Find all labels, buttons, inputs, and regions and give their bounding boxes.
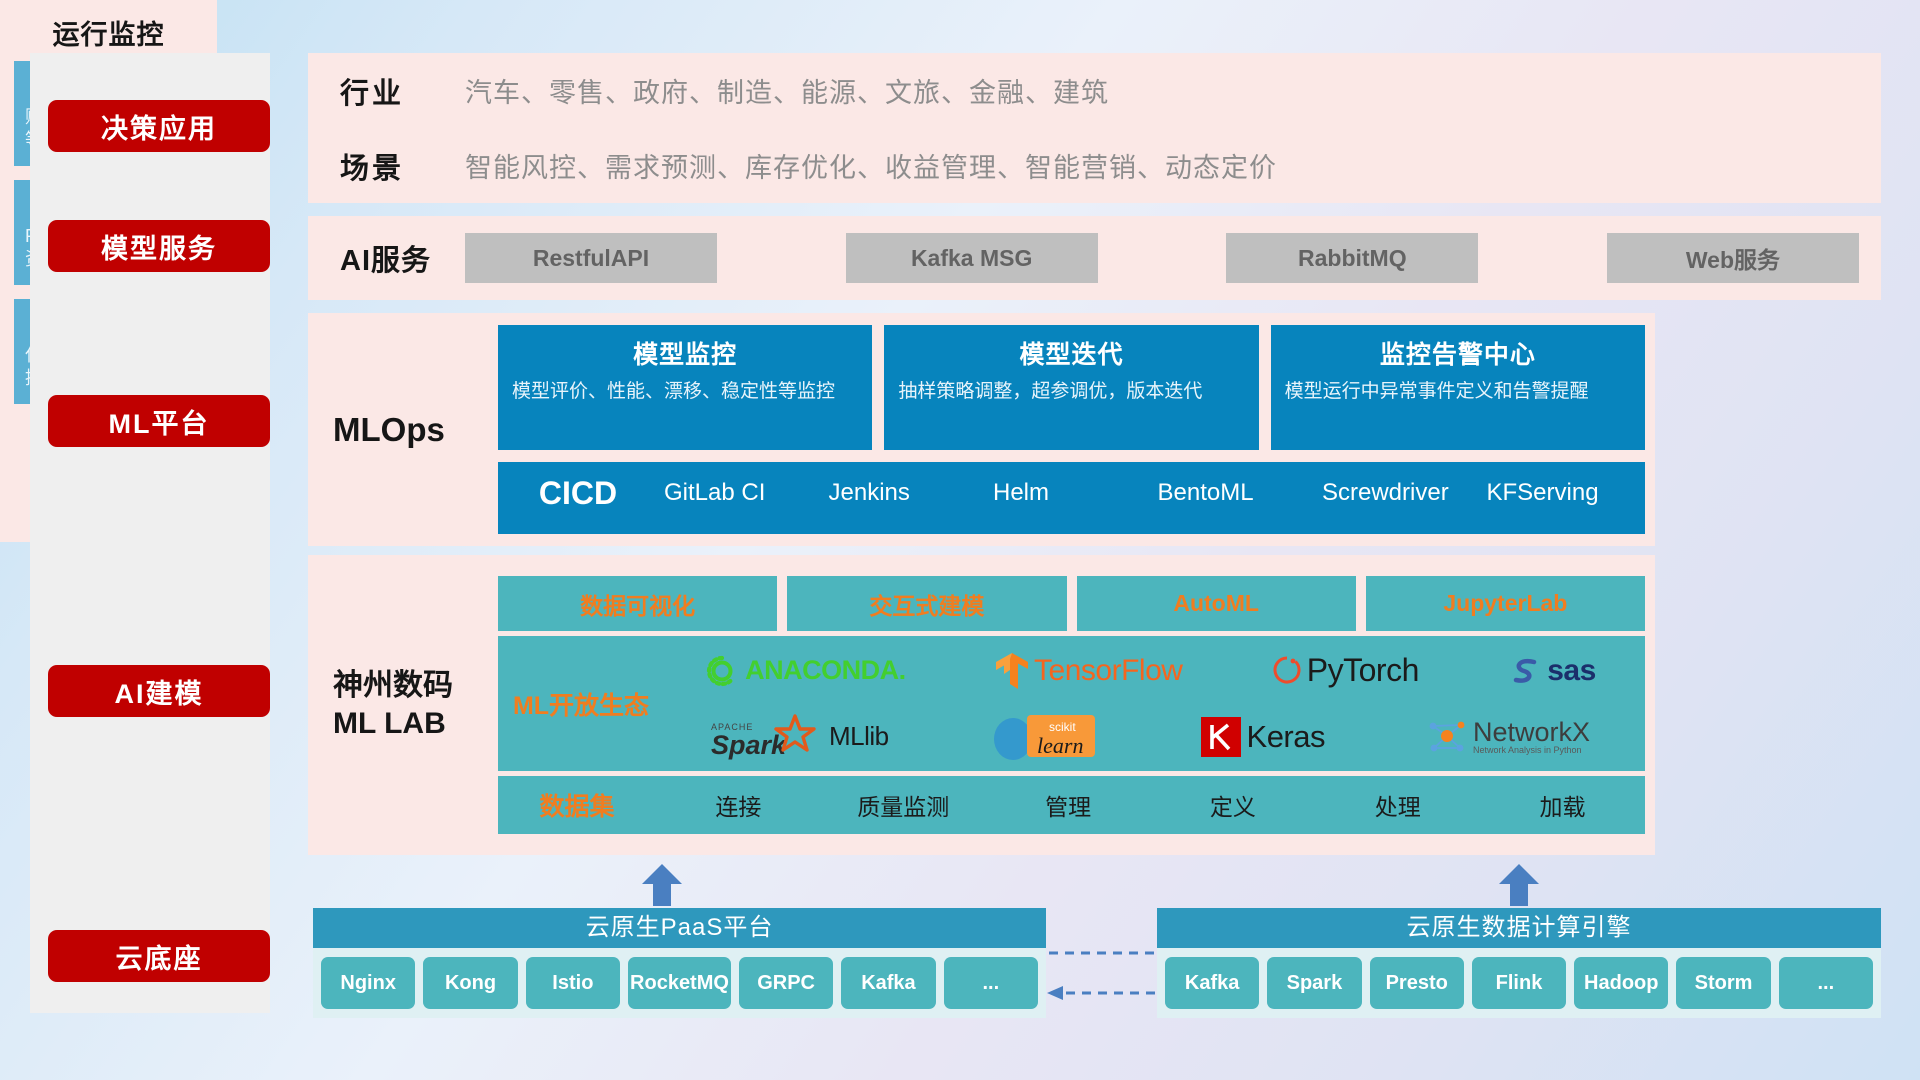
scikit-learn-logo: scikit learn <box>991 713 1099 761</box>
engine-chip-flink[interactable]: Flink <box>1472 957 1566 1009</box>
scenario-value: 智能风控、需求预测、库存优化、收益管理、智能营销、动态定价 <box>465 146 1277 185</box>
rail-label: 决策应用 <box>101 107 217 146</box>
mlops-card-model-monitoring[interactable]: 模型监控 模型评价、性能、漂移、稳定性等监控 <box>498 325 872 450</box>
rail-item-ai-modeling[interactable]: AI建模 <box>48 665 270 717</box>
scikit-learn-icon: scikit learn <box>991 713 1099 761</box>
engine-chip-presto[interactable]: Presto <box>1370 957 1464 1009</box>
ai-service-band: AI服务 RestfulAPI Kafka MSG RabbitMQ Web服务 <box>308 216 1881 300</box>
mlops-cards: 模型监控 模型评价、性能、漂移、稳定性等监控 模型迭代 抽样策略调整，超参调优，… <box>498 325 1645 450</box>
cicd-item-screwdriver[interactable]: Screwdriver <box>1316 462 1481 509</box>
paas-chip-grpc[interactable]: GRPC <box>739 957 833 1009</box>
mlops-card-alert-center[interactable]: 监控告警中心 模型运行中异常事件定义和告警提醒 <box>1271 325 1645 450</box>
anaconda-text: ANACONDA. <box>745 655 906 686</box>
cicd-row: CICD GitLab CI Jenkins Helm BentoML Scre… <box>498 462 1645 534</box>
ml-ecosystem-block: ML开放生态 ANACONDA. <box>498 636 1645 771</box>
cloud-engine-chips: Kafka Spark Presto Flink Hadoop Storm ..… <box>1157 948 1881 1018</box>
cicd-item-kfserving[interactable]: KFServing <box>1481 462 1646 509</box>
mlops-card-model-iteration[interactable]: 模型迭代 抽样策略调整，超参调优，版本迭代 <box>884 325 1258 450</box>
engine-chip-hadoop[interactable]: Hadoop <box>1574 957 1668 1009</box>
card-desc: 模型运行中异常事件定义和告警提醒 <box>1285 379 1631 404</box>
cicd-item-gitlab[interactable]: GitLab CI <box>658 462 823 509</box>
keras-logo: Keras <box>1201 717 1325 757</box>
engine-chip-storm[interactable]: Storm <box>1676 957 1770 1009</box>
card-title: 模型迭代 <box>898 335 1244 371</box>
bidirectional-dashed-connector-icon <box>1045 935 1175 1005</box>
service-button-web[interactable]: Web服务 <box>1607 233 1859 283</box>
scenario-key: 场景 <box>340 145 465 187</box>
service-button-restful[interactable]: RestfulAPI <box>465 233 717 283</box>
paas-chip-istio[interactable]: Istio <box>526 957 620 1009</box>
scenario-row: 场景 智能风控、需求预测、库存优化、收益管理、智能营销、动态定价 <box>308 128 1881 203</box>
dataset-item-quality[interactable]: 质量监测 <box>821 788 986 822</box>
cicd-title: CICD <box>498 462 658 512</box>
industry-row: 行业 汽车、零售、政府、制造、能源、文旅、金融、建筑 <box>308 53 1881 128</box>
diagram-canvas: 决策应用 模型服务 ML平台 AI建模 云底座 行业 汽车、零售、政府、制造、能… <box>0 0 1920 1080</box>
tool-interactive-modeling[interactable]: 交互式建模 <box>787 576 1066 631</box>
rail-label: 模型服务 <box>101 227 217 266</box>
pytorch-logo: PyTorch <box>1273 652 1419 689</box>
rail-item-cloud-base[interactable]: 云底座 <box>48 930 270 982</box>
cloud-engine-title: 云原生数据计算引擎 <box>1157 908 1881 948</box>
rail-label: AI建模 <box>115 672 204 711</box>
card-title: 模型监控 <box>512 335 858 371</box>
mllib-text: MLlib <box>829 721 889 752</box>
monitor-panel-title: 运行监控 <box>0 0 217 61</box>
engine-chip-more[interactable]: ... <box>1779 957 1873 1009</box>
ml-lab-tools: 数据可视化 交互式建模 AutoML JupyterLab <box>498 576 1645 631</box>
rail-item-model-service[interactable]: 模型服务 <box>48 220 270 272</box>
anaconda-icon <box>705 654 739 688</box>
ecosystem-logo-row-2: APACHE Spark MLlib scikit <box>660 705 1641 769</box>
ml-lab-label-line1: 神州数码 <box>333 667 498 705</box>
svg-text:Spark: Spark <box>711 730 788 760</box>
mlops-content: 模型监控 模型评价、性能、漂移、稳定性等监控 模型迭代 抽样策略调整，超参调优，… <box>498 316 1655 543</box>
ml-ecosystem-label: ML开放生态 <box>502 686 660 722</box>
service-button-rabbitmq[interactable]: RabbitMQ <box>1226 233 1478 283</box>
dataset-item-process[interactable]: 处理 <box>1315 788 1480 822</box>
paas-chip-kong[interactable]: Kong <box>423 957 517 1009</box>
dataset-item-load[interactable]: 加载 <box>1480 788 1645 822</box>
paas-chip-nginx[interactable]: Nginx <box>321 957 415 1009</box>
tool-automl[interactable]: AutoML <box>1077 576 1356 631</box>
sas-logo: sas <box>1509 654 1596 688</box>
industry-key: 行业 <box>340 70 465 112</box>
dataset-row: 数据集 连接 质量监测 管理 定义 处理 加载 <box>498 776 1645 834</box>
stack-layer-rail <box>30 53 270 1013</box>
svg-text:scikit: scikit <box>1049 720 1076 734</box>
card-title: 监控告警中心 <box>1285 335 1631 371</box>
cicd-item-bentoml[interactable]: BentoML <box>1152 462 1317 509</box>
engine-chip-spark[interactable]: Spark <box>1267 957 1361 1009</box>
ai-service-buttons: RestfulAPI Kafka MSG RabbitMQ Web服务 <box>465 233 1881 283</box>
rail-item-ml-platform[interactable]: ML平台 <box>48 395 270 447</box>
pytorch-text: PyTorch <box>1307 652 1419 689</box>
mlops-label: MLOps <box>333 411 498 449</box>
keras-text: Keras <box>1247 719 1325 755</box>
ai-service-label: AI服务 <box>340 237 465 279</box>
cloud-paas-chips: Nginx Kong Istio RocketMQ GRPC Kafka ... <box>313 948 1046 1018</box>
cloud-paas-box: 云原生PaaS平台 Nginx Kong Istio RocketMQ GRPC… <box>313 908 1046 1018</box>
paas-chip-kafka[interactable]: Kafka <box>841 957 935 1009</box>
sas-icon <box>1509 655 1541 687</box>
cloud-paas-title: 云原生PaaS平台 <box>313 908 1046 948</box>
dataset-item-manage[interactable]: 管理 <box>986 788 1151 822</box>
networkx-icon <box>1427 718 1467 756</box>
engine-chip-kafka[interactable]: Kafka <box>1165 957 1259 1009</box>
tensorflow-text: TensorFlow <box>1034 654 1182 688</box>
dataset-label: 数据集 <box>498 787 656 823</box>
paas-chip-more[interactable]: ... <box>944 957 1038 1009</box>
up-arrow-engine-icon <box>1497 862 1541 906</box>
tensorflow-logo: TensorFlow <box>996 653 1182 689</box>
networkx-logo: NetworkX Network Analysis in Python <box>1427 718 1590 756</box>
cicd-item-jenkins[interactable]: Jenkins <box>823 462 988 509</box>
pytorch-icon <box>1273 654 1301 688</box>
ml-lab-label: 神州数码 ML LAB <box>333 667 498 743</box>
ml-ecosystem-logos: ANACONDA. TensorFlow <box>660 639 1641 769</box>
tool-data-visualization[interactable]: 数据可视化 <box>498 576 777 631</box>
networkx-text: NetworkX <box>1473 719 1590 746</box>
dataset-item-connect[interactable]: 连接 <box>656 788 821 822</box>
rail-item-decision-app[interactable]: 决策应用 <box>48 100 270 152</box>
keras-icon <box>1201 717 1241 757</box>
industry-scenario-band: 行业 汽车、零售、政府、制造、能源、文旅、金融、建筑 场景 智能风控、需求预测、… <box>308 53 1881 203</box>
anaconda-logo: ANACONDA. <box>705 654 906 688</box>
sas-text: sas <box>1547 654 1596 688</box>
spark-icon: APACHE Spark <box>711 714 823 760</box>
rail-label: 云底座 <box>116 937 203 976</box>
cloud-engine-box: 云原生数据计算引擎 Kafka Spark Presto Flink Hadoo… <box>1157 908 1881 1018</box>
svg-text:learn: learn <box>1037 733 1083 758</box>
ml-lab-content: 数据可视化 交互式建模 AutoML JupyterLab ML开放生态 <box>498 568 1655 842</box>
industry-value: 汽车、零售、政府、制造、能源、文旅、金融、建筑 <box>465 71 1109 110</box>
ecosystem-logo-row-1: ANACONDA. TensorFlow <box>660 639 1641 703</box>
paas-chip-rocketmq[interactable]: RocketMQ <box>628 957 731 1009</box>
mlops-band: MLOps 模型监控 模型评价、性能、漂移、稳定性等监控 模型迭代 抽样策略调整… <box>308 313 1655 546</box>
networkx-subtext: Network Analysis in Python <box>1473 746 1590 755</box>
rail-label: ML平台 <box>109 402 210 441</box>
spark-mllib-logo: APACHE Spark MLlib <box>711 714 889 760</box>
ml-lab-label-line2: ML LAB <box>333 705 498 743</box>
up-arrow-paas-icon <box>640 862 684 906</box>
ml-lab-band: 神州数码 ML LAB 数据可视化 交互式建模 AutoML JupyterLa… <box>308 555 1655 855</box>
dataset-item-define[interactable]: 定义 <box>1150 788 1315 822</box>
tensorflow-icon <box>996 653 1028 689</box>
cicd-item-helm[interactable]: Helm <box>987 462 1152 509</box>
card-desc: 模型评价、性能、漂移、稳定性等监控 <box>512 379 858 404</box>
service-button-kafka[interactable]: Kafka MSG <box>846 233 1098 283</box>
tool-jupyterlab[interactable]: JupyterLab <box>1366 576 1645 631</box>
card-desc: 抽样策略调整，超参调优，版本迭代 <box>898 379 1244 404</box>
